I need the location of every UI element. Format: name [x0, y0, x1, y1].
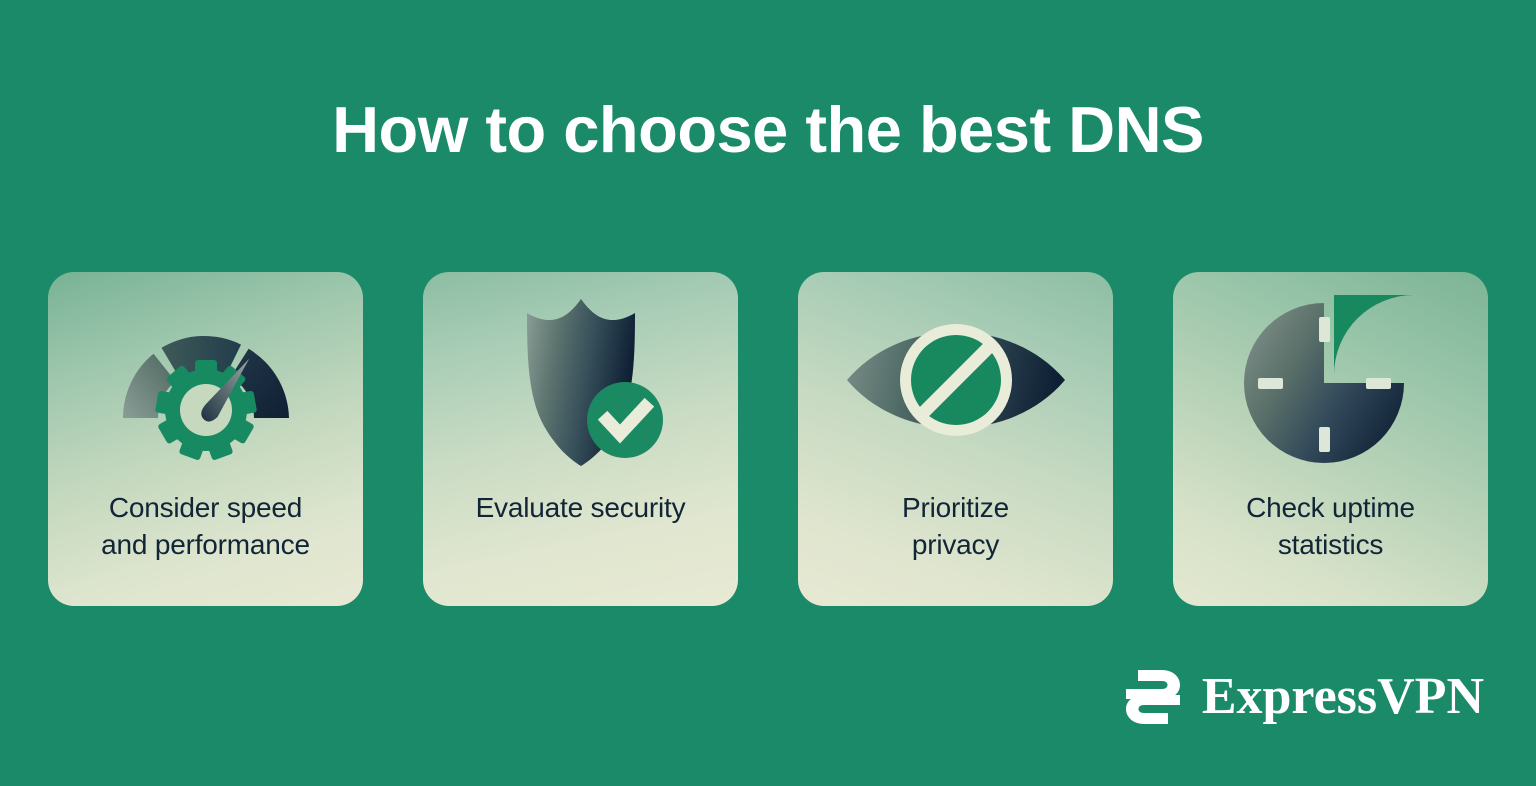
infographic-poster: How to choose the best DNS — [0, 0, 1536, 786]
clock-tick-12 — [1319, 317, 1330, 342]
clock-tick-6 — [1319, 427, 1330, 452]
card-label-line-2: and performance — [101, 529, 310, 560]
cards-row: Consider speed and performance — [48, 272, 1488, 606]
card-label: Consider speed and performance — [62, 490, 349, 564]
card-label-line-1: Consider speed — [109, 492, 302, 523]
card-label: Prioritize privacy — [812, 490, 1099, 564]
card-label-line-1: Prioritize — [902, 492, 1009, 523]
shield-check-icon — [423, 272, 738, 487]
card-label-line-1: Check uptime — [1246, 492, 1415, 523]
card-consider-speed-and-performance: Consider speed and performance — [48, 272, 363, 606]
expressvpn-e-mark-icon — [1122, 666, 1184, 728]
clock-tick-9 — [1258, 378, 1283, 389]
expressvpn-wordmark: ExpressVPN — [1202, 671, 1484, 723]
card-label-line-1: Evaluate security — [476, 492, 686, 523]
clock-tick-3 — [1366, 378, 1391, 389]
uptime-quarter-wedge — [1334, 295, 1414, 375]
card-label: Evaluate security — [437, 490, 724, 527]
card-evaluate-security: Evaluate security — [423, 272, 738, 606]
clock-pie-chart-icon — [1173, 272, 1488, 487]
card-check-uptime-statistics: Check uptime statistics — [1173, 272, 1488, 606]
speedometer-gauge-icon — [48, 272, 363, 487]
card-label-line-2: privacy — [912, 529, 999, 560]
eye-blocked-icon — [798, 272, 1113, 487]
expressvpn-logo: ExpressVPN — [1122, 666, 1484, 728]
card-label: Check uptime statistics — [1187, 490, 1474, 564]
page-title: How to choose the best DNS — [0, 96, 1536, 164]
card-prioritize-privacy: Prioritize privacy — [798, 272, 1113, 606]
card-label-line-2: statistics — [1278, 529, 1383, 560]
